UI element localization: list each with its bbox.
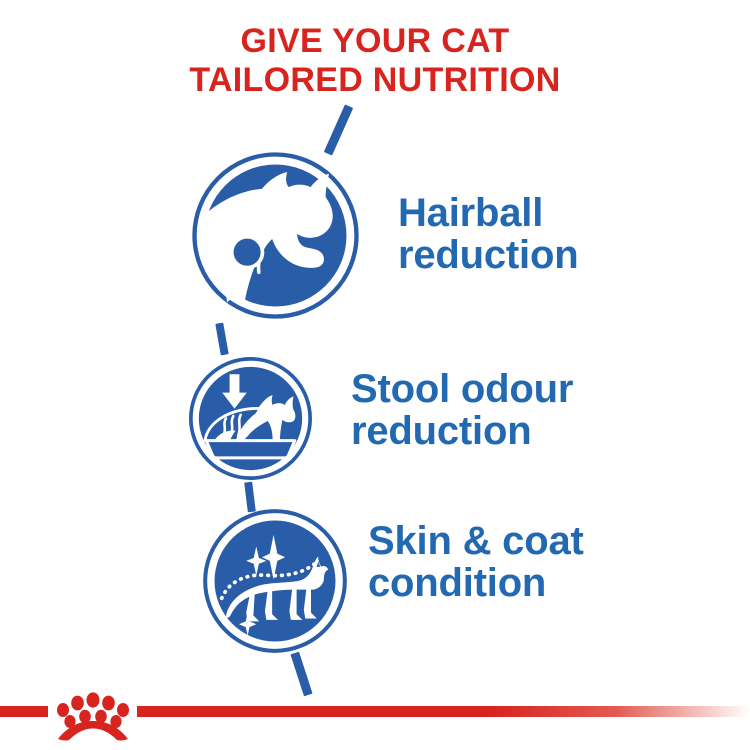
feature-label-stool-odour-line-1: Stool odour [351,368,573,410]
feature-label-stool-odour-line-2: reduction [351,410,573,452]
cat-hairball-digestion-icon [192,152,359,319]
cat-litter-box-odour-icon [189,357,312,480]
feature-label-skin-coat: Skin & coat condition [368,520,584,605]
infographic-canvas: GIVE YOUR CAT TAILORED NUTRITION [0,0,750,750]
feature-label-skin-coat-line-2: condition [368,562,584,604]
feature-label-skin-coat-line-1: Skin & coat [368,520,584,562]
connector-dash-between-second-and-third-icon [244,482,256,513]
feature-label-hairball-line-1: Hairball [398,192,578,234]
feature-label-hairball: Hairball reduction [398,192,578,277]
connector-dash-between-first-and-second-icon [215,323,228,356]
page-title: GIVE YOUR CAT TAILORED NUTRITION [0,22,750,100]
cat-shiny-coat-sparkle-icon [203,509,347,653]
connector-dash-above-first-icon [324,104,353,155]
page-title-line-2: TAILORED NUTRITION [0,61,750,100]
page-title-line-1: GIVE YOUR CAT [0,22,750,61]
feature-label-hairball-line-2: reduction [398,234,578,276]
feature-label-stool-odour: Stool odour reduction [351,368,573,453]
brand-footer [0,690,750,750]
royal-canin-crown-logo [52,690,134,742]
brand-rule-right-fading [137,706,750,717]
brand-rule-left [0,706,48,717]
